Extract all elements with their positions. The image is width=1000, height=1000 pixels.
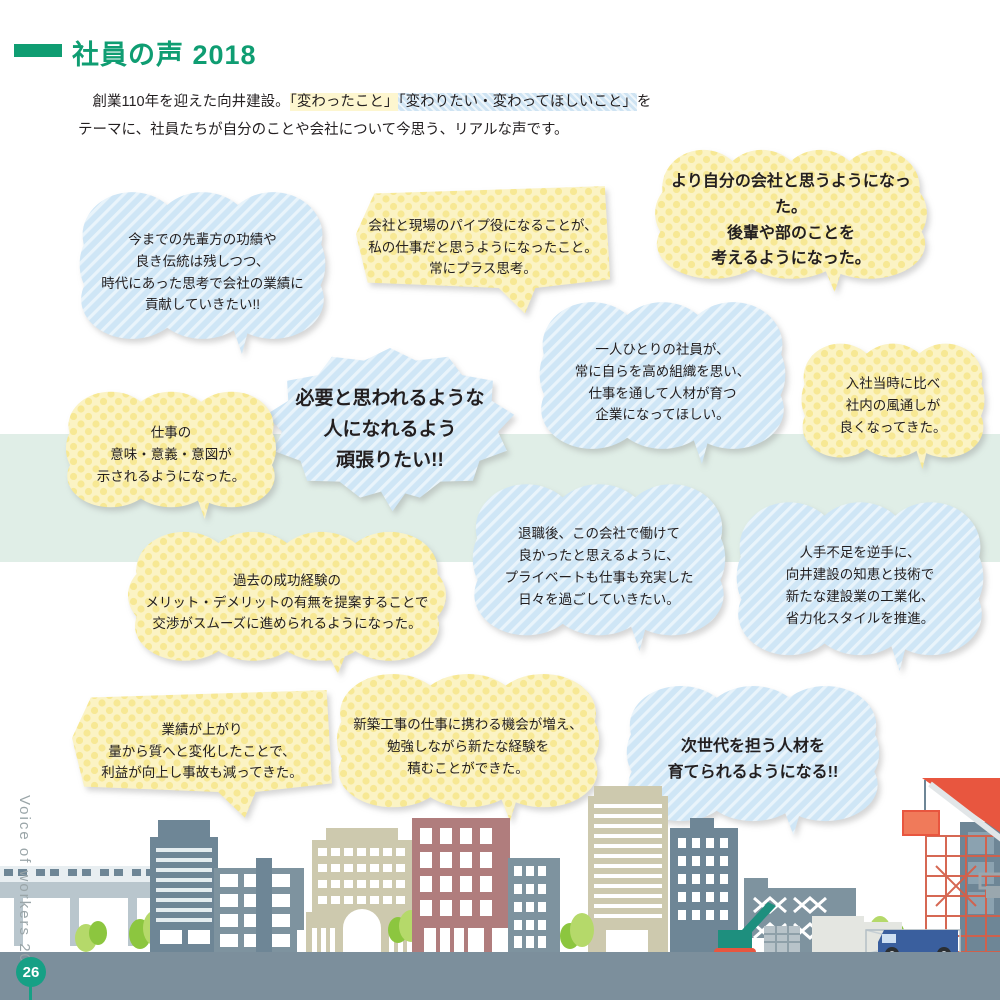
speech-bubble-cloud: 退職後、この会社で働けて 良かったと思えるように、 プライベートも仕事も充実した… [468, 482, 730, 652]
building-brick-apartment [412, 818, 510, 952]
speech-bubble-cloud: 入社当時に比べ 社内の風通しが 良くなってきた。 [798, 342, 988, 470]
building-tan-tower [588, 786, 668, 952]
bubble-text: 会社と現場のパイプ役になることが、 私の仕事だと思うようになったこと。 常にプラ… [362, 215, 604, 281]
page-header: 社員の声 2018 [0, 0, 1000, 80]
bubble-text: 今までの先輩方の功績や 良き伝統は残しつつ、 時代にあった思考で会社の業績に 貢… [95, 229, 310, 316]
intro-highlight-yellow: 「変わったこと」 [290, 93, 399, 111]
speech-bubble-cloud: 一人ひとりの社員が、 常に自らを高め組織を思い、 仕事を通して人材が育つ 企業に… [535, 300, 790, 465]
speech-bubble-cloud: 今までの先輩方の功績や 良き伝統は残しつつ、 時代にあった思考で会社の業績に 貢… [75, 190, 330, 355]
bubble-text: 退職後、この会社で働けて 良かったと思えるように、 プライベートも仕事も充実した… [499, 523, 700, 610]
speech-bubble-cloud: より自分の会社と思うようになった。 後輩や部のことを 考えるようになった。 [650, 148, 932, 293]
building-slate-small [508, 858, 560, 952]
intro-highlight-blue: 「変わりたい・変わってほしいこと」 [398, 93, 637, 111]
page-number-badge: 26 [16, 957, 46, 987]
bubble-text: 人手不足を逆手に、 向井建設の知恵と技術で 新たな建設業の工業化、 省力化スタイ… [780, 542, 941, 629]
building-grey-low [214, 858, 311, 952]
city-skyline-illustration [0, 770, 1000, 1000]
bubble-text: より自分の会社と思うようになった。 後輩や部のことを 考えるようになった。 [650, 169, 932, 273]
bubble-text: 入社当時に比べ 社内の風通しが 良くなってきた。 [834, 373, 953, 439]
intro-text-b: を [637, 94, 652, 110]
bubble-text: 過去の成功経験の メリット・デメリットの有無を提案することで 交渉がスムーズに進… [139, 570, 434, 636]
intro-text-a: 創業110年を迎えた向井建設。 [78, 94, 290, 110]
header-accent-bar [14, 44, 62, 57]
building-slate-striped [150, 820, 218, 952]
intro-line-2: テーマに、社員たちが自分のことや会社について今思う、リアルな声です。 [78, 116, 718, 144]
intro-paragraph: 創業110年を迎えた向井建設。「変わったこと」「変わりたい・変わってほしいこと」… [78, 88, 718, 144]
bubble-text: 必要と思われるような 人になれるよう 頑張りたい!! [289, 384, 490, 476]
speech-bubble-cloud: 人手不足を逆手に、 向井建設の知恵と技術で 新たな建設業の工業化、 省力化スタイ… [732, 500, 988, 672]
speech-bubble-cloud: 仕事の 意味・意義・意図が 示されるようになった。 [62, 390, 280, 520]
tree-group [560, 913, 594, 949]
ground-strip [0, 952, 1000, 1000]
speech-bubble-polygon: 会社と現場のパイプ役になることが、 私の仕事だと思うようになったこと。 常にプラ… [352, 180, 614, 315]
bubble-text: 一人ひとりの社員が、 常に自らを高め組織を思い、 仕事を通して人材が育つ 企業に… [569, 339, 757, 426]
page-title: 社員の声 2018 [72, 33, 257, 72]
intro-line-1: 創業110年を迎えた向井建設。「変わったこと」「変わりたい・変わってほしいこと」… [78, 88, 718, 116]
page-root: 社員の声 2018 創業110年を迎えた向井建設。「変わったこと」「変わりたい・… [0, 0, 1000, 1000]
speech-bubble-cloud: 過去の成功経験の メリット・デメリットの有無を提案することで 交渉がスムーズに進… [122, 530, 452, 675]
bubble-text: 仕事の 意味・意義・意図が 示されるようになった。 [91, 422, 252, 488]
